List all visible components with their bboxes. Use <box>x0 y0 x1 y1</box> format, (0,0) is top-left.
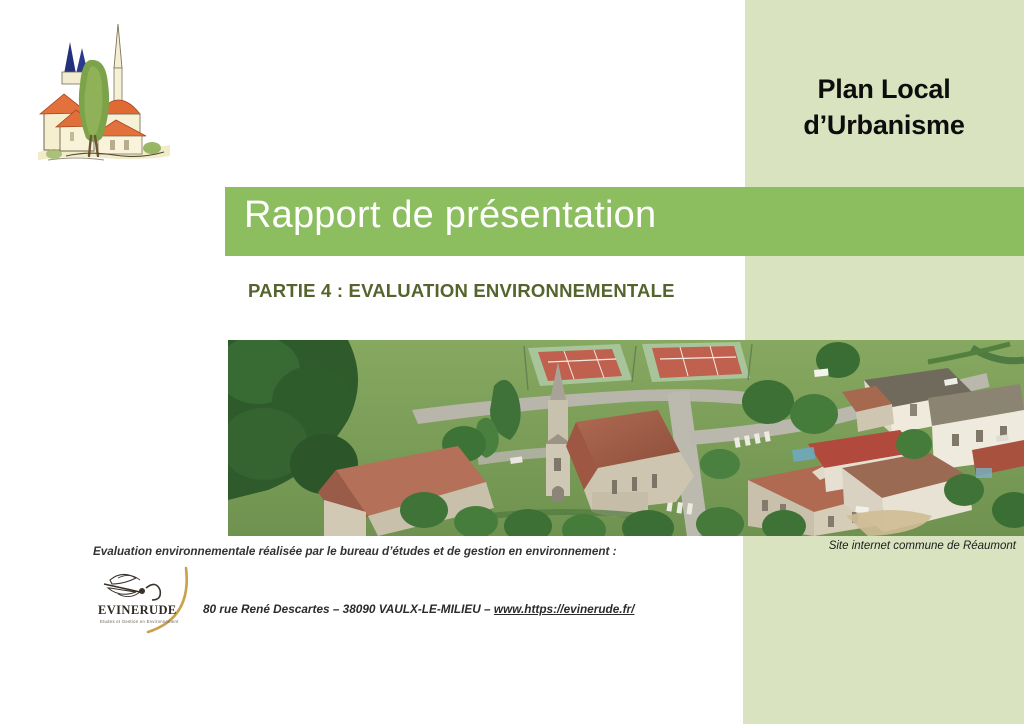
document-page: Plan Local d’Urbanisme Rapport de présen… <box>0 0 1024 724</box>
address-text: 80 rue René Descartes – 38090 VAULX-LE-M… <box>203 602 494 616</box>
footer-note: Evaluation environnementale réalisée par… <box>93 545 616 558</box>
report-subtitle: PARTIE 4 : EVALUATION ENVIRONNEMENTALE <box>248 280 675 302</box>
svg-text:Etudes et Gestion en Environne: Etudes et Gestion en Environnement <box>100 619 179 624</box>
evinerude-logo: EVINERUDE Etudes et Gestion en Environne… <box>88 558 210 634</box>
website-link[interactable]: www.https://evinerude.fr/ <box>494 602 635 616</box>
svg-text:EVINERUDE: EVINERUDE <box>98 603 177 617</box>
page-title-line-2: d’Urbanisme <box>748 108 1020 144</box>
address-line: 80 rue René Descartes – 38090 VAULX-LE-M… <box>203 602 634 616</box>
aerial-photo <box>228 340 1024 536</box>
page-title: Plan Local d’Urbanisme <box>748 72 1020 143</box>
photo-credit: Site internet commune de Réaumont <box>760 540 1016 552</box>
report-title-banner: Rapport de présentation <box>225 187 1024 256</box>
report-title: Rapport de présentation <box>244 194 656 237</box>
commune-logo <box>18 14 186 176</box>
page-title-line-1: Plan Local <box>748 72 1020 108</box>
